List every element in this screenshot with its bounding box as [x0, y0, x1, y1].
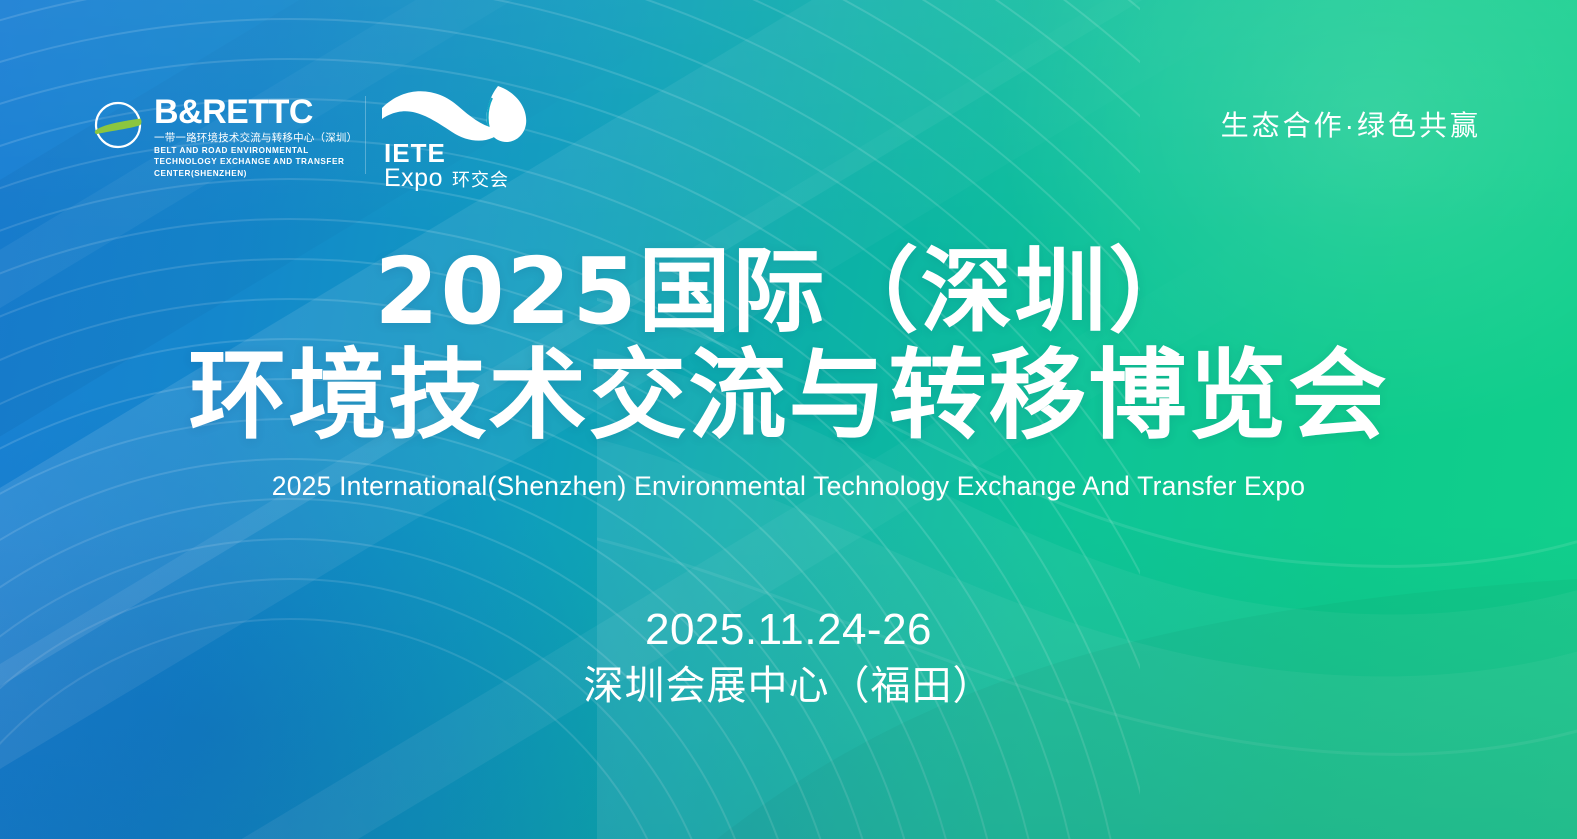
globe-ring-icon — [90, 97, 146, 153]
logo-divider — [365, 96, 366, 174]
event-slogan: 生态合作·绿色共赢 — [1221, 104, 1481, 144]
brettc-text-block: B&RETTC 一带一路环境技术交流与转移中心（深圳） BELT AND ROA… — [154, 95, 357, 179]
brettc-name-en-line3: CENTER(SHENZHEN) — [154, 169, 357, 179]
iete-expo-row: Expo 环交会 — [384, 165, 509, 193]
brettc-name-en-line1: BELT AND ROAD ENVIRONMENTAL — [154, 146, 357, 156]
page-title-line2: 环境技术交流与转移博览会 — [0, 340, 1577, 452]
banner-header: B&RETTC 一带一路环境技术交流与转移中心（深圳） BELT AND ROA… — [0, 0, 1577, 200]
brettc-name-en-line2: TECHNOLOGY EXCHANGE AND TRANSFER — [154, 157, 357, 167]
iete-word-cn: 环交会 — [452, 167, 509, 193]
brettc-name-cn: 一带一路环境技术交流与转移中心（深圳） — [154, 132, 357, 145]
page-title-english: 2025 International(Shenzhen) Environment… — [0, 470, 1577, 502]
event-venue: 深圳会展中心（福田） — [0, 659, 1577, 713]
page-title-line1: 2025国际（深圳） — [0, 240, 1577, 344]
event-meta: 2025.11.24-26 深圳会展中心（福田） — [0, 603, 1577, 713]
event-date: 2025.11.24-26 — [0, 603, 1577, 657]
brettc-wordmark: B&RETTC — [154, 95, 357, 129]
banner-main: 2025国际（深圳） 环境技术交流与转移博览会 2025 Internation… — [0, 240, 1577, 502]
brettc-logo[interactable]: B&RETTC 一带一路环境技术交流与转移中心（深圳） BELT AND ROA… — [90, 95, 357, 179]
iete-acronym: IETE — [384, 140, 446, 166]
event-banner: B&RETTC 一带一路环境技术交流与转移中心（深圳） BELT AND ROA… — [0, 0, 1577, 839]
iete-expo-word: Expo — [384, 165, 443, 191]
iete-expo-logo[interactable]: IETE Expo 环交会 — [380, 82, 540, 192]
